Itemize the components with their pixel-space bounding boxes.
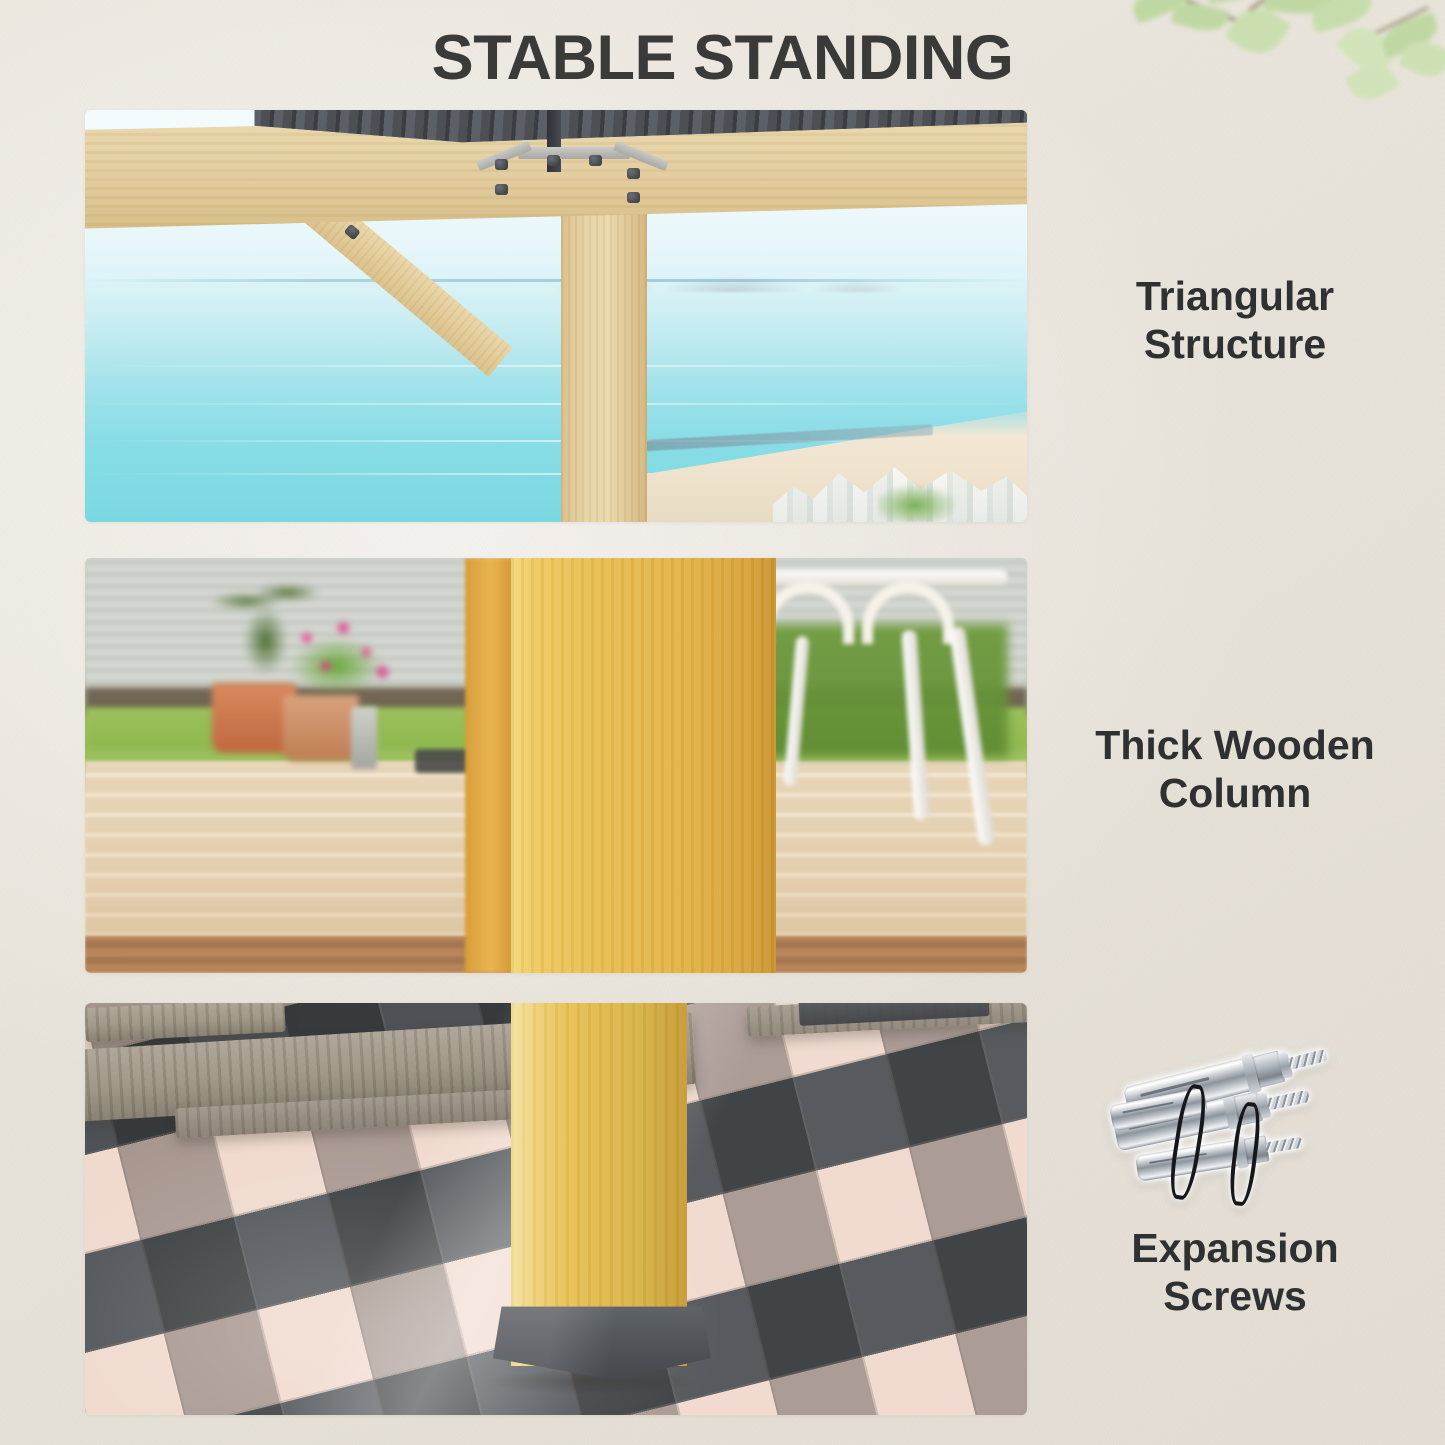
patio-chair <box>758 566 1008 840</box>
horizon-line <box>85 279 1027 282</box>
feature-label-line: Thick Wooden <box>1040 722 1430 770</box>
garden-lantern <box>351 707 377 769</box>
infographic-page: STABLE STANDING <box>0 0 1445 1445</box>
feature-label-expansion-screws: Expansion Screws <box>1040 1225 1430 1321</box>
feature-label-line: Structure <box>1040 321 1430 369</box>
feature-photo-expansion-screws <box>85 1003 1027 1415</box>
feature-photo-thick-wooden-column <box>85 558 1027 973</box>
bolt-icon <box>627 168 640 179</box>
background-post <box>465 558 517 973</box>
bolt-icon <box>627 192 640 203</box>
feature-label-line: Screws <box>1040 1273 1430 1321</box>
foreground-leaf <box>878 466 970 522</box>
bolt-icon <box>589 155 602 166</box>
feature-label-line: Triangular <box>1040 273 1430 321</box>
wave-line <box>85 365 1027 367</box>
feature-label-line: Column <box>1040 770 1430 818</box>
feature-label-triangular-structure: Triangular Structure <box>1040 273 1430 369</box>
feature-label-line: Expansion <box>1040 1225 1430 1273</box>
bolt-icon <box>495 159 508 170</box>
page-title: STABLE STANDING <box>0 22 1445 94</box>
feature-photo-triangular-structure <box>85 110 1027 522</box>
wave-line <box>85 403 1027 405</box>
feature-label-thick-wooden-column: Thick Wooden Column <box>1040 722 1430 818</box>
bolt-icon <box>495 184 508 195</box>
thick-wooden-column <box>511 558 776 973</box>
terracotta-pot <box>283 695 359 761</box>
expansion-screws-icon <box>1113 1076 1318 1211</box>
bolt-icon <box>547 155 560 166</box>
